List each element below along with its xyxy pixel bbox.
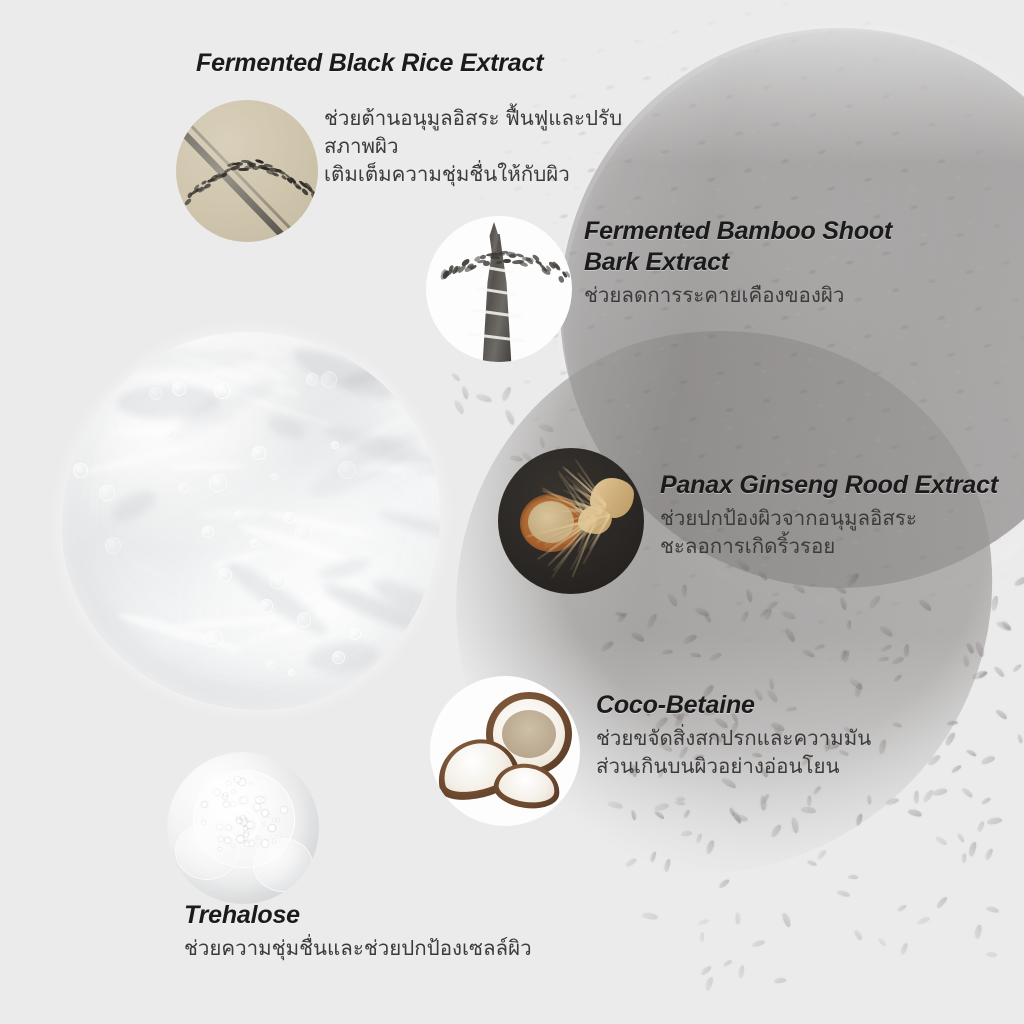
rice-grain bbox=[760, 795, 767, 810]
rice-grain bbox=[676, 797, 685, 801]
rice-grain bbox=[896, 903, 907, 912]
gel-microbubble bbox=[269, 825, 275, 831]
gel-microbubble bbox=[249, 841, 254, 846]
rice-grain bbox=[839, 650, 847, 662]
rice-grain bbox=[683, 633, 698, 645]
rice-grain bbox=[837, 889, 851, 897]
gel-bubble bbox=[260, 599, 273, 612]
rice-grain bbox=[539, 437, 546, 448]
rice-grain bbox=[690, 653, 702, 659]
gel-microbubble bbox=[250, 783, 252, 785]
rice-grain bbox=[807, 860, 818, 867]
rice-grain bbox=[877, 937, 887, 947]
rice-grain bbox=[766, 601, 778, 611]
rice-grain bbox=[908, 808, 924, 818]
rice-grain bbox=[849, 677, 864, 690]
gel-microbubble bbox=[237, 836, 243, 842]
gel-bubble bbox=[202, 526, 214, 538]
gel-bubble bbox=[149, 387, 162, 400]
rice-grain bbox=[900, 942, 909, 955]
rice-grain bbox=[985, 905, 999, 913]
ingredient-block-coco-betaine: Coco-Betaine ช่วยขจัดสิ่งสกปรกและความมัน… bbox=[596, 690, 936, 781]
rice-grain bbox=[631, 809, 637, 819]
gel-microbubble bbox=[235, 777, 240, 782]
gel-microbubble bbox=[257, 837, 259, 839]
ingredient-description: ช่วยความชุ่มชื่นและช่วยปกป้องเซลล์ผิว bbox=[184, 935, 584, 963]
rice-grain bbox=[769, 678, 775, 690]
rice-grain bbox=[667, 593, 679, 608]
gel-microbubble bbox=[247, 822, 253, 828]
gel-microbubble bbox=[263, 823, 265, 825]
gel-microbubble bbox=[218, 848, 221, 851]
rice-grain bbox=[932, 787, 947, 796]
rice-grain bbox=[981, 754, 996, 765]
rice-grain bbox=[704, 613, 713, 623]
ingredient-block-fermented-black-rice: Fermented Black Rice Extract ช่วยต้านอนุ… bbox=[196, 48, 666, 189]
gel-bubble bbox=[209, 474, 227, 492]
rice-grain bbox=[839, 597, 848, 611]
rice-grain bbox=[978, 670, 988, 679]
gel-microbubble bbox=[273, 840, 275, 842]
rice-grain bbox=[867, 795, 871, 805]
rice-grain bbox=[745, 589, 753, 603]
rice-grain bbox=[704, 977, 714, 992]
ingredient-block-trehalose: Trehalose ช่วยความชุ่มชื่นและช่วยปกป้องเ… bbox=[184, 900, 584, 963]
gel-bubble bbox=[172, 382, 186, 396]
rice-grain bbox=[893, 673, 903, 682]
rice-grain bbox=[878, 656, 889, 662]
rice-grain bbox=[801, 806, 817, 814]
rice-grain bbox=[663, 858, 671, 871]
rice-grain bbox=[921, 789, 934, 804]
rice-grain bbox=[752, 940, 766, 949]
rice-grain bbox=[868, 594, 882, 610]
rice-grain bbox=[1017, 734, 1023, 744]
rice-grain bbox=[696, 832, 704, 843]
gel-microbubble bbox=[277, 819, 279, 821]
rice-grain bbox=[996, 620, 1013, 633]
gel-bubble bbox=[288, 669, 295, 676]
rice-grain bbox=[855, 813, 863, 826]
rice-grain bbox=[848, 875, 858, 879]
rice-grain bbox=[760, 794, 769, 805]
gel-microbubble bbox=[202, 802, 207, 807]
gel-bubble bbox=[252, 446, 266, 460]
rice-spikelet bbox=[184, 198, 192, 206]
rice-grain bbox=[993, 665, 1005, 678]
gel-highlight bbox=[197, 506, 265, 520]
rice-grain bbox=[649, 852, 656, 863]
rice-grain bbox=[1013, 574, 1024, 586]
rice-grain bbox=[842, 650, 850, 663]
gel-microbubble bbox=[254, 812, 256, 814]
rice-grain bbox=[697, 918, 709, 926]
rice-grain bbox=[723, 958, 733, 966]
rice-grain bbox=[984, 848, 993, 860]
gel-bubble bbox=[105, 537, 122, 554]
rice-grain bbox=[615, 611, 626, 618]
gel-microbubble bbox=[224, 793, 227, 796]
gel-microbubble bbox=[239, 779, 245, 785]
rice-grain bbox=[814, 643, 826, 651]
rice-grain bbox=[682, 584, 687, 597]
coconut-photo bbox=[430, 676, 580, 826]
rice-grain bbox=[966, 643, 975, 655]
ginseng-root-photo bbox=[498, 448, 644, 594]
gel-bubble bbox=[295, 525, 312, 542]
rice-grain bbox=[625, 857, 637, 868]
rice-grain bbox=[935, 835, 948, 846]
rice-grain bbox=[918, 597, 933, 611]
bamboo-frond bbox=[483, 260, 490, 265]
rice-grain bbox=[935, 896, 948, 910]
rice-grain bbox=[974, 925, 982, 940]
gel-microbubble bbox=[268, 815, 270, 817]
rice-grain bbox=[641, 912, 657, 921]
rice-grain bbox=[763, 608, 772, 621]
gel-microbubble bbox=[281, 807, 287, 813]
gel-shadow bbox=[107, 485, 159, 527]
gel-microbubble bbox=[214, 790, 220, 796]
rice-grain bbox=[968, 840, 978, 856]
gel-microbubble bbox=[217, 825, 221, 829]
rice-grain bbox=[971, 670, 987, 681]
gel-bubble bbox=[205, 630, 222, 647]
rice-grain bbox=[792, 583, 806, 595]
rice-grain bbox=[784, 627, 797, 643]
rice-grain bbox=[732, 814, 748, 823]
rice-grain bbox=[1001, 620, 1012, 631]
rice-grain bbox=[986, 817, 1002, 826]
gel-bubble bbox=[218, 568, 232, 582]
ingredient-description: ช่วยต้านอนุมูลอิสระ ฟื้นฟูและปรับสภาพผิว… bbox=[324, 105, 666, 189]
gel-bubble bbox=[284, 512, 295, 523]
gel-microbubble bbox=[227, 782, 230, 785]
gel-bubble bbox=[214, 382, 230, 398]
rice-grain bbox=[995, 708, 1009, 721]
ingredient-block-fermented-bamboo-shoot: Fermented Bamboo Shoot Bark Extract ช่วย… bbox=[584, 216, 984, 310]
gel-bubble bbox=[349, 628, 361, 640]
rice-grain bbox=[706, 839, 716, 854]
gel-bubble bbox=[271, 473, 278, 480]
rice-grain bbox=[916, 915, 930, 925]
rice-grain bbox=[759, 608, 769, 618]
gel-bubble bbox=[306, 373, 318, 385]
rice-grain bbox=[683, 809, 691, 819]
gel-microbubble bbox=[202, 821, 204, 823]
rice-grain bbox=[709, 651, 723, 662]
rice-grain bbox=[600, 640, 615, 653]
gel-highlight bbox=[117, 609, 241, 655]
gel-microbubble bbox=[232, 845, 234, 847]
gel-droplet-photo bbox=[167, 752, 319, 904]
rice-grain bbox=[738, 964, 745, 978]
rice-grain bbox=[944, 731, 956, 746]
rice-grain bbox=[539, 423, 556, 434]
gel-bubble bbox=[75, 401, 92, 418]
rice-grain bbox=[914, 791, 919, 804]
bamboo-shoot-photo bbox=[426, 216, 572, 362]
rice-grain bbox=[881, 643, 893, 652]
ingredient-description: ช่วยลดการระคายเคืองของผิว bbox=[584, 282, 984, 310]
rice-grain bbox=[816, 849, 827, 861]
ingredient-title: Trehalose bbox=[184, 900, 584, 931]
ingredient-title: Fermented Black Rice Extract bbox=[196, 48, 666, 79]
rice-grain bbox=[1012, 663, 1022, 673]
gel-highlight bbox=[73, 650, 116, 668]
rice-grain bbox=[740, 610, 749, 622]
gel-highlight bbox=[168, 463, 246, 471]
ingredient-title: Fermented Bamboo Shoot Bark Extract bbox=[584, 216, 984, 278]
rice-grain bbox=[504, 408, 516, 425]
rice-grain bbox=[807, 796, 812, 807]
gel-highlight bbox=[131, 561, 175, 584]
rice-grain bbox=[835, 585, 847, 595]
ingredient-title: Coco-Betaine bbox=[596, 690, 936, 721]
rice-grain bbox=[845, 572, 860, 588]
ingredient-description: ช่วยขจัดสิ่งสกปรกและความมัน ส่วนเกินบนผิ… bbox=[596, 725, 936, 781]
gel-bubble bbox=[267, 660, 276, 669]
rice-grain bbox=[680, 830, 692, 836]
rice-grain bbox=[630, 631, 645, 643]
gel-highlight bbox=[83, 443, 186, 478]
rice-grain bbox=[946, 720, 957, 726]
gel-bubble bbox=[73, 463, 88, 478]
rice-grain bbox=[951, 764, 962, 773]
rice-grain bbox=[891, 655, 904, 664]
rice-grain bbox=[700, 964, 712, 975]
ingredient-block-panax-ginseng-root: Panax Ginseng Rood Extract ช่วยปกป้องผิว… bbox=[660, 470, 1024, 561]
gel-microbubble bbox=[244, 833, 248, 837]
rice-grain bbox=[781, 912, 792, 928]
gel-microbubble bbox=[244, 837, 247, 840]
rice-grain bbox=[963, 656, 969, 668]
rice-grain bbox=[990, 595, 999, 611]
rice-grain bbox=[770, 823, 782, 837]
rice-grain bbox=[802, 648, 816, 659]
rice-grain bbox=[962, 853, 967, 864]
rice-grain bbox=[510, 454, 524, 462]
gel-bubble bbox=[214, 372, 222, 380]
rice-grain bbox=[607, 800, 623, 810]
rice-grain bbox=[616, 611, 627, 623]
rice-grain bbox=[729, 807, 736, 817]
rice-grain bbox=[653, 802, 669, 812]
gel-bubble bbox=[178, 483, 188, 493]
rice-grain bbox=[501, 387, 512, 403]
rice-grain bbox=[846, 620, 851, 630]
gel-microbubble bbox=[237, 819, 241, 823]
gel-bubble bbox=[99, 485, 116, 502]
gel-bubble bbox=[250, 539, 258, 547]
rice-grain bbox=[461, 386, 469, 399]
rice-grain bbox=[790, 817, 799, 834]
rice-grain bbox=[662, 649, 673, 655]
rice-grain bbox=[475, 393, 492, 404]
bamboo-frond bbox=[503, 259, 511, 263]
ingredient-title: Panax Ginseng Rood Extract bbox=[660, 470, 1024, 501]
gel-bubble bbox=[321, 371, 337, 387]
rice-grain bbox=[694, 606, 710, 617]
rice-grain bbox=[981, 796, 991, 805]
rice-grain bbox=[879, 624, 894, 637]
infographic-canvas: Fermented Black Rice Extract ช่วยต้านอนุ… bbox=[0, 0, 1024, 1024]
rice-grain bbox=[966, 748, 978, 757]
rice-grain bbox=[735, 912, 740, 924]
rice-grain bbox=[976, 821, 985, 833]
gel-microbubble bbox=[244, 827, 247, 830]
rice-grain bbox=[718, 877, 731, 888]
rice-grain bbox=[453, 399, 465, 415]
rice-grain bbox=[903, 644, 909, 657]
gel-microbubble bbox=[262, 840, 268, 846]
rice-grain bbox=[854, 929, 864, 941]
rice-grain bbox=[674, 800, 685, 806]
rice-grain bbox=[774, 977, 787, 983]
rice-grain bbox=[645, 612, 658, 629]
gel-bubble bbox=[331, 441, 339, 449]
gel-bubble bbox=[269, 573, 286, 590]
rice-grain bbox=[974, 641, 985, 658]
rice-grain bbox=[986, 951, 998, 956]
rice-grain bbox=[451, 372, 461, 382]
rice-grain bbox=[654, 810, 665, 820]
rice-grain bbox=[732, 811, 743, 824]
gel-bubble bbox=[203, 380, 210, 387]
rice-grain bbox=[812, 784, 822, 795]
ingredient-description: ช่วยปกป้องผิวจากอนุมูลอิสระ ชะลอการเกิดร… bbox=[660, 505, 1024, 561]
rice-grain bbox=[699, 932, 704, 942]
gel-bubble bbox=[338, 461, 356, 479]
rice-grain bbox=[961, 787, 974, 799]
rice-grain bbox=[781, 610, 797, 621]
rice-grain bbox=[757, 570, 769, 582]
rice-grain bbox=[885, 798, 899, 807]
clear-gel-texture bbox=[62, 332, 440, 710]
rice-grain bbox=[957, 832, 966, 843]
gel-shadow bbox=[375, 507, 440, 548]
gel-bubble bbox=[135, 420, 142, 427]
